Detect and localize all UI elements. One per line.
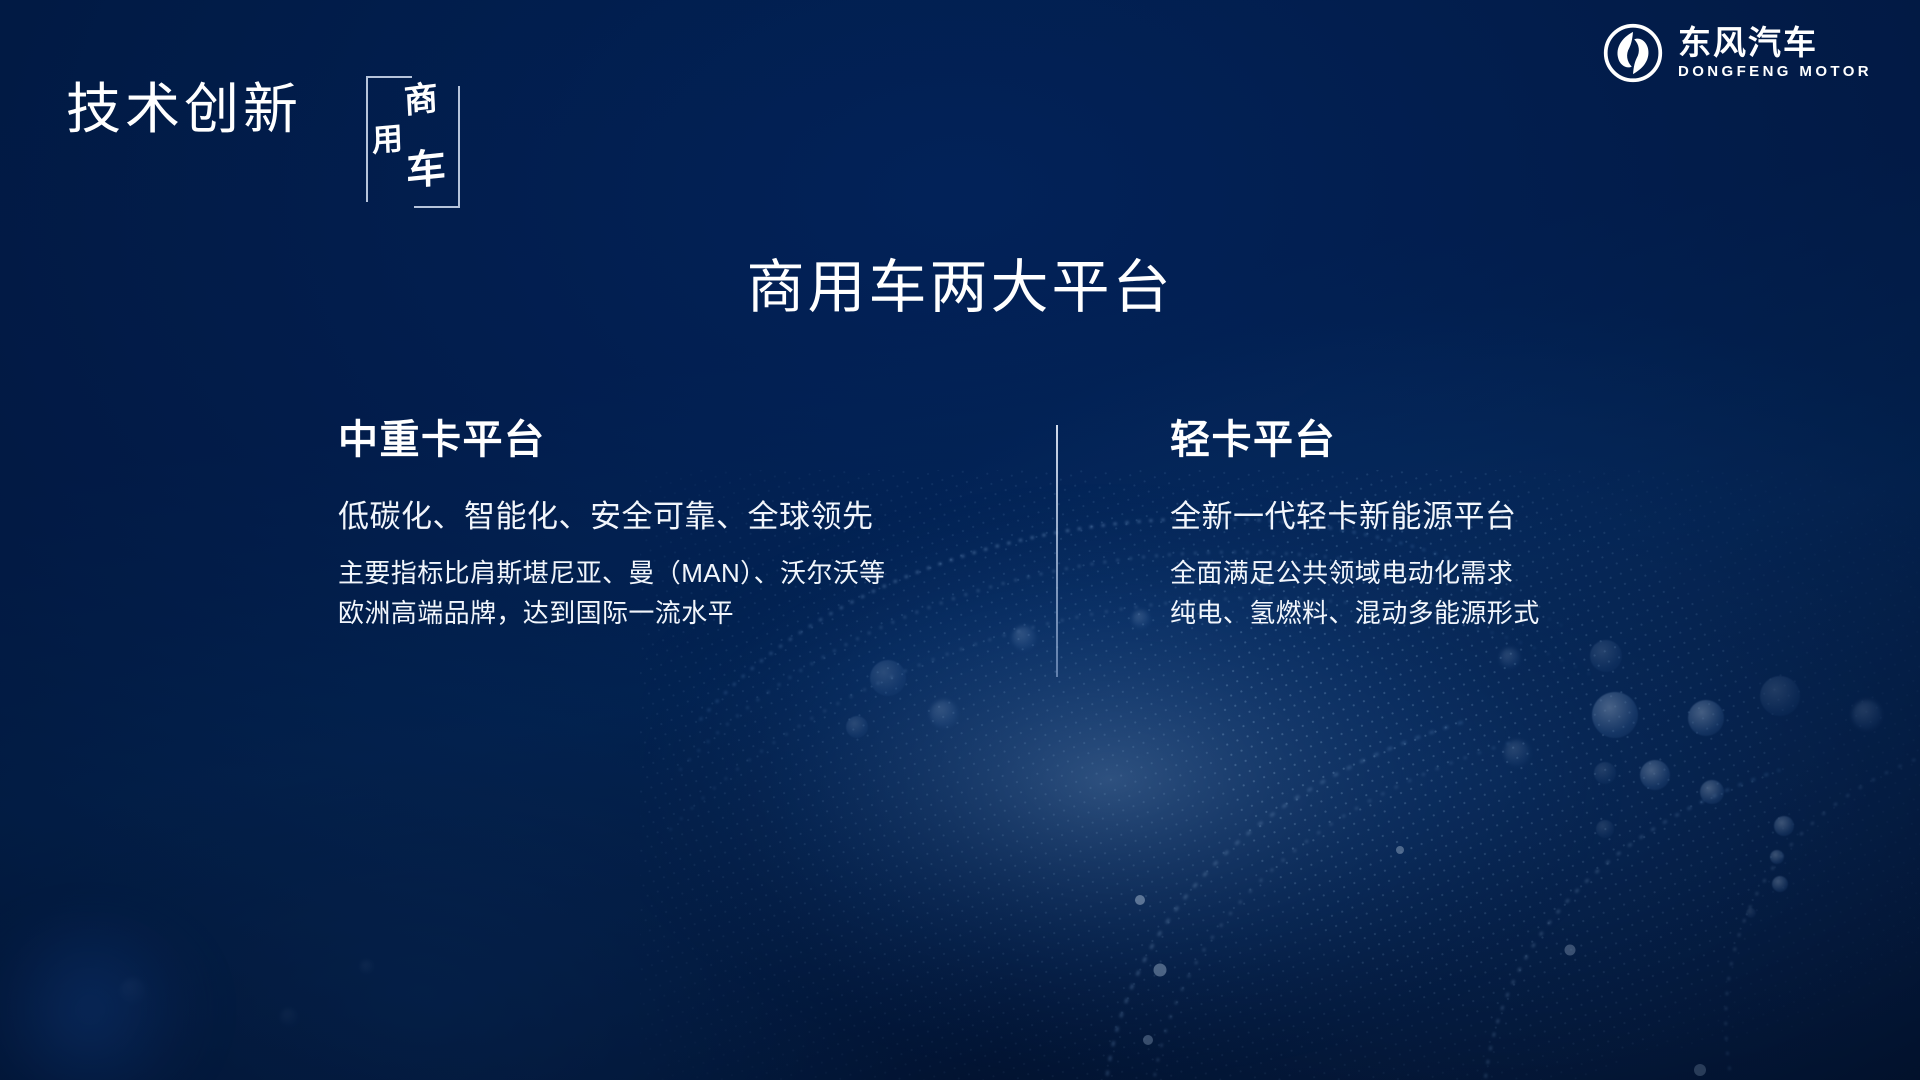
- section-title: 技术创新: [66, 82, 302, 137]
- commercial-vehicle-seal: 商 用 车: [360, 68, 464, 210]
- brand-logo: 东风汽车 DONGFENG MOTOR: [1602, 22, 1872, 84]
- platform-columns: 中重卡平台 低碳化、智能化、安全可靠、全球领先 主要指标比肩斯堪尼亚、曼（MAN…: [0, 420, 1920, 720]
- platform-detail-line: 全面满足公共领域电动化需求: [1170, 553, 1790, 593]
- brand-name-en: DONGFENG MOTOR: [1678, 64, 1872, 81]
- brand-name-cn: 东风汽车: [1678, 26, 1872, 61]
- seal-characters: 商 用 车: [360, 68, 464, 210]
- platform-detail-line: 主要指标比肩斯堪尼亚、曼（MAN）、沃尔沃等: [338, 553, 998, 593]
- presentation-slide: 技术创新 商 用 车 东风汽车 DONGFENG MOTOR 商用车两大平台 中…: [0, 0, 1920, 1080]
- slide-headline: 商用车两大平台: [0, 240, 1920, 324]
- platform-detail-line: 纯电、氢燃料、混动多能源形式: [1170, 593, 1790, 633]
- platform-heading-heavy-truck: 中重卡平台: [338, 420, 998, 460]
- platform-heading-light-truck: 轻卡平台: [1170, 420, 1790, 460]
- column-divider: [1056, 425, 1058, 677]
- seal-char-shang: 商: [403, 82, 439, 120]
- brand-text: 东风汽车 DONGFENG MOTOR: [1678, 26, 1872, 80]
- platform-lead-line: 全新一代轻卡新能源平台: [1170, 498, 1790, 536]
- platform-body-heavy-truck: 低碳化、智能化、安全可靠、全球领先 主要指标比肩斯堪尼亚、曼（MAN）、沃尔沃等…: [338, 498, 998, 633]
- dongfeng-emblem-icon: [1602, 22, 1664, 84]
- platform-column-heavy-truck: 中重卡平台 低碳化、智能化、安全可靠、全球领先 主要指标比肩斯堪尼亚、曼（MAN…: [338, 420, 998, 633]
- seal-char-che: 车: [406, 148, 446, 192]
- platform-detail-line: 欧洲高端品牌，达到国际一流水平: [338, 593, 998, 633]
- seal-char-yong: 用: [372, 123, 404, 157]
- platform-column-light-truck: 轻卡平台 全新一代轻卡新能源平台 全面满足公共领域电动化需求 纯电、氢燃料、混动…: [1170, 420, 1790, 633]
- platform-lead-line: 低碳化、智能化、安全可靠、全球领先: [338, 498, 998, 536]
- platform-body-light-truck: 全新一代轻卡新能源平台 全面满足公共领域电动化需求 纯电、氢燃料、混动多能源形式: [1170, 498, 1790, 633]
